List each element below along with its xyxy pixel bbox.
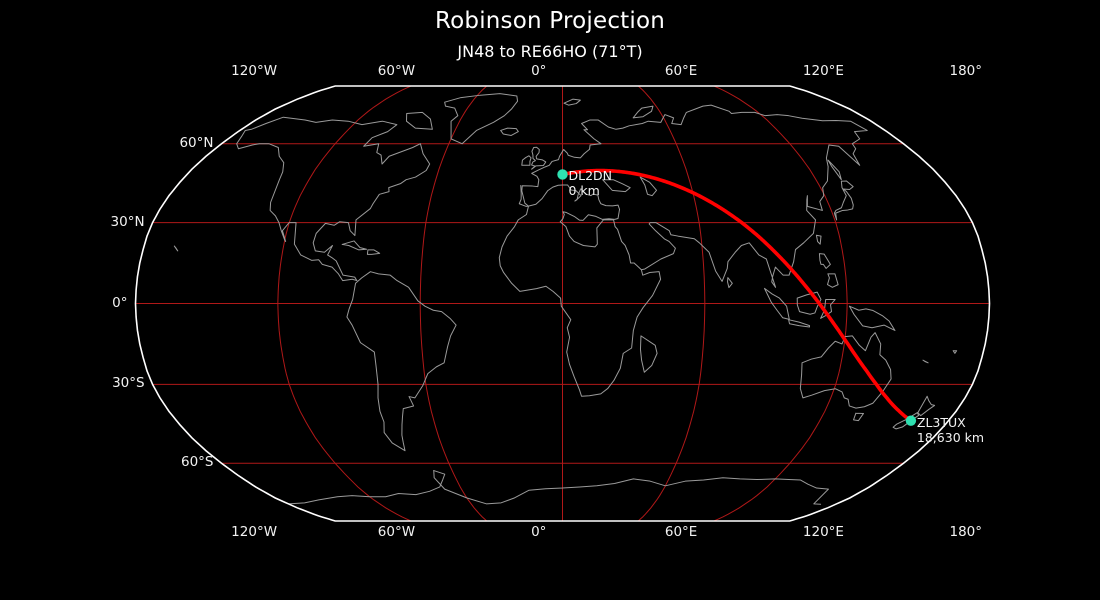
latitude-tick-1: 30°N [0,214,145,230]
coastline-28 [816,235,821,244]
coastline-5 [522,156,531,166]
longitude-tick-top-5: 120°W [214,63,294,79]
longitude-tick-top-4: 180° [926,63,1006,79]
coastline-6 [834,181,853,220]
station-marker-zl3tux[interactable] [906,415,916,425]
longitude-tick-bottom-0: 60°W [356,524,436,540]
coastline-15 [854,413,864,420]
longitude-tick-bottom-5: 120°W [214,524,294,540]
coastline-3 [501,128,519,135]
station-distance: 0 km [569,183,613,198]
coastline-20 [288,471,444,504]
coastline-24 [633,106,653,118]
longitude-tick-top-3: 120°E [783,63,863,79]
station-distance: 18,630 km [917,430,984,445]
latitude-tick-2: 0° [0,295,128,311]
coastline-22 [728,278,733,288]
latitude-tick-4: 60°S [0,454,213,470]
coastline-4 [532,147,546,169]
coastline-32 [174,246,177,251]
longitude-tick-bottom-2: 60°E [641,524,721,540]
coastline-25 [342,241,366,250]
coastline-31 [953,351,957,354]
great-circle-segment [563,171,911,421]
coastline-20 [434,471,829,505]
longitude-tick-bottom-3: 120°E [783,524,863,540]
latitude-tick-0: 60°N [0,135,213,151]
station-callsign: ZL3TUX [917,415,966,430]
longitude-tick-top-0: 60°W [356,63,436,79]
coastline-layer [174,94,956,505]
latitude-tick-3: 30°S [0,375,145,391]
coastline-33 [923,360,928,363]
figure-canvas: Robinson Projection JN48 to RE66HO (71°T… [0,0,1100,600]
coastline-2 [445,94,518,144]
station-callsign: DL2DN [569,168,613,183]
coastline-26 [367,250,379,255]
station-marker-dl2dn[interactable] [557,169,567,179]
great-circle-path [563,171,911,421]
station-label-zl3tux: ZL3TUX18,630 km [917,415,984,445]
coastline-19 [347,272,456,451]
coastline-0 [499,185,660,396]
longitude-tick-top-1: 0° [499,63,579,79]
coastline-23 [564,99,580,105]
coastline-10 [789,320,810,327]
coastline-34 [828,160,841,180]
longitude-tick-top-2: 60°E [641,63,721,79]
coastline-8 [827,274,838,287]
coastline-16 [918,396,935,415]
longitude-tick-bottom-4: 180° [926,524,1006,540]
coastline-18 [237,117,430,280]
coastline-13 [849,306,895,330]
robinson-map [0,0,1100,600]
station-markers [557,169,916,426]
coastline-27 [406,112,432,129]
station-label-dl2dn: DL2DN0 km [569,168,613,198]
coastline-7 [819,254,830,269]
longitude-tick-bottom-1: 0° [499,524,579,540]
coastline-21 [640,336,657,372]
